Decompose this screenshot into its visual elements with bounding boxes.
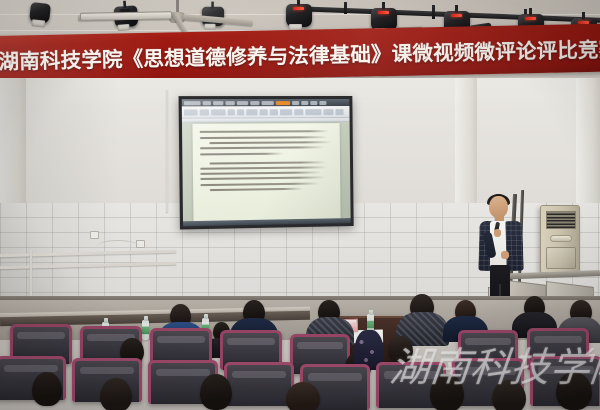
titlebar-chip [261, 101, 273, 105]
ribbon-chip [270, 109, 278, 115]
projection-screen-surface [182, 99, 351, 226]
document-line [200, 177, 325, 181]
ribbon-chip [294, 109, 303, 115]
audience-head [32, 372, 62, 406]
electrical-conduit [166, 90, 168, 212]
document-line [200, 147, 325, 150]
titlebar-chip-active [276, 101, 290, 105]
ribbon-chip [260, 109, 268, 115]
air-conditioner-panel [546, 247, 576, 269]
audience-head [556, 372, 592, 410]
titlebar-chip [250, 101, 259, 105]
ribbon-chip [200, 109, 209, 115]
audience-head [492, 380, 526, 410]
document-line [210, 161, 327, 164]
app-ribbon-toolbar [182, 106, 350, 119]
event-banner-text: 湖南科技学院《思想道德修养与法律基础》课微视频微评论评比竞赛 [0, 33, 600, 75]
document-line [200, 172, 321, 176]
wall-shadow [0, 78, 120, 308]
titlebar-chip [237, 101, 248, 105]
stage-spotlight [29, 2, 51, 24]
lecture-hall-photo: 湖南科技学院《思想道德修养与法律基础》课微视频微评论评比竞赛 [0, 0, 600, 410]
audience-head [430, 374, 464, 410]
audience-head [286, 382, 320, 410]
air-conditioner-grille [546, 211, 576, 229]
document-line [200, 182, 319, 186]
stage-spotlight [286, 4, 312, 27]
air-conditioner-logo [550, 235, 572, 242]
audience-head [388, 336, 413, 363]
projection-screen [179, 96, 354, 230]
titlebar-chip [292, 101, 299, 105]
ribbon-chip [280, 109, 292, 115]
document-line [200, 152, 283, 155]
document-page [192, 123, 340, 221]
ribbon-chip [323, 109, 333, 115]
fluorescent-tube [80, 11, 172, 21]
ribbon-chip [228, 109, 235, 115]
ribbon-chip [237, 109, 244, 115]
presenter-head [489, 196, 508, 218]
titlebar-chip [203, 101, 211, 105]
ribbon-chip [184, 109, 198, 115]
document-line [200, 130, 329, 133]
ribbon-chip [305, 109, 321, 115]
ribbon-chip [335, 109, 343, 115]
water-bottle [142, 320, 149, 340]
titlebar-chip [225, 101, 234, 105]
titlebar-chip [184, 101, 201, 105]
presenter-hand [501, 251, 509, 259]
presenter-hand [494, 229, 501, 237]
ribbon-chip [211, 109, 226, 115]
audience-seat[interactable] [224, 362, 294, 406]
document-line [209, 141, 331, 144]
document-canvas [182, 122, 351, 221]
air-conditioner [540, 205, 580, 273]
hanging-cable [96, 240, 140, 254]
titlebar-chip [301, 101, 308, 105]
document-line [210, 187, 303, 190]
titlebar-chip [319, 101, 326, 105]
document-line [200, 166, 326, 169]
titlebar-chip [310, 101, 317, 105]
document-line [200, 136, 328, 139]
presenter-jacket [505, 221, 523, 271]
audience-head [200, 374, 232, 410]
junction-box [90, 231, 99, 239]
ribbon-chip [246, 109, 257, 115]
audience-head [100, 378, 132, 410]
titlebar-chip [213, 101, 223, 105]
